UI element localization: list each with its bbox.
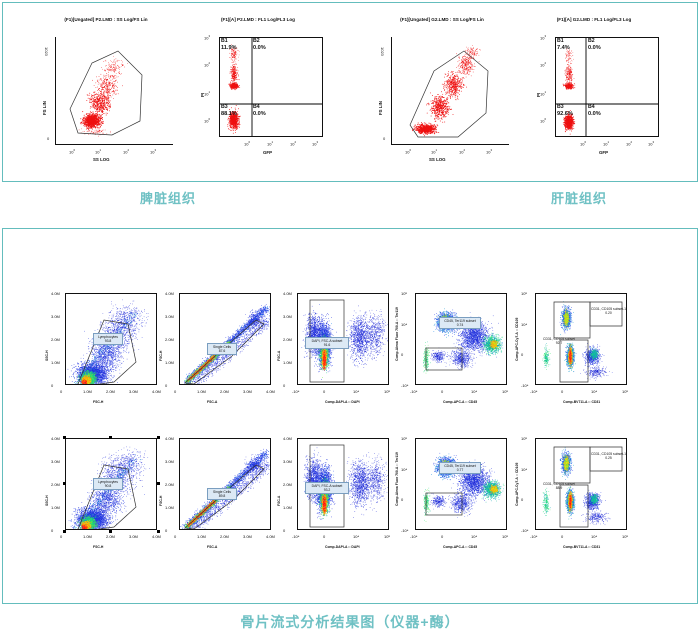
x-tick: 0: [441, 534, 443, 539]
x-tick: 102: [626, 140, 632, 146]
x-axis-label: SS LOG: [93, 157, 110, 162]
y-tick: 103: [540, 34, 546, 40]
y-tick: 4.0M: [283, 436, 292, 441]
gate-value: 88.9: [556, 486, 563, 490]
x-tick: 3.0M: [243, 534, 252, 539]
y-tick: 103: [204, 34, 210, 40]
y-tick: 4.0M: [283, 291, 292, 296]
x-tick: 102: [123, 148, 129, 154]
y-tick: 2.0M: [51, 482, 60, 487]
x-tick: 10⁵: [502, 389, 508, 394]
x-tick: 103: [312, 140, 318, 146]
plot-title: (F1)[A] P2.LMD : FL1 Log/FL3 Log: [183, 17, 333, 22]
y-tick: 10⁴: [401, 467, 407, 472]
selection-handle[interactable]: [109, 436, 112, 439]
gate-annotation[interactable]: Single Cells87.6: [207, 343, 237, 355]
plot-area[interactable]: [55, 37, 173, 145]
y-axis-label: Comp-Alexa Fluor 700-A :: Ter119: [395, 452, 399, 506]
y-tick: 4.0M: [51, 291, 60, 296]
y-tick: 0: [165, 383, 167, 388]
y-tick: 1023: [44, 47, 49, 56]
x-tick: -10⁴: [530, 389, 538, 394]
quadrant-label-b4: B4: [588, 104, 595, 110]
gate-annotation[interactable]: Lymphocytes90.8: [93, 478, 123, 490]
x-axis-label: Comp-BV711-A :: CD31: [563, 545, 600, 549]
gate-value: 90.8: [105, 484, 112, 488]
x-axis-label: FSC-A: [207, 400, 217, 404]
gate-label: CD31, CD105 subset-1: [591, 307, 626, 311]
x-tick: 10⁴: [591, 389, 597, 394]
x-tick: 0: [323, 534, 325, 539]
y-tick: -10⁴: [521, 383, 529, 388]
x-tick: 10⁴: [353, 389, 359, 394]
y-tick: -10⁴: [401, 383, 409, 388]
x-axis-label: SS LOG: [429, 157, 446, 162]
y-tick: 0: [47, 136, 49, 141]
x-tick: 0: [60, 534, 62, 539]
top-panel: (F1)[Ungated] P2.LMD : SS Log/FS Lin FS …: [2, 2, 698, 182]
y-axis-label: FSC-A: [277, 495, 281, 505]
gate-value: 0.25: [605, 456, 612, 460]
y-tick: 102: [204, 61, 210, 67]
gate-annotation[interactable]: DAPI, FSC-A subset91.6: [305, 337, 349, 349]
plot-row2-p5[interactable]: Comp-APC-Cy7-A :: CD105-10⁴010⁴10⁵CD31, …: [511, 434, 637, 560]
gate-annotation[interactable]: CD45, Ter119 subset0.77: [439, 462, 481, 474]
quadrant-value-b3: 92.6%: [557, 111, 573, 117]
x-tick: 2.0M: [220, 534, 229, 539]
x-tick: 10⁵: [384, 534, 390, 539]
x-tick: 0: [441, 389, 443, 394]
y-tick: 4.0M: [51, 436, 60, 441]
gate-annotation[interactable]: Single Cells89.8: [207, 488, 237, 500]
y-tick: 0: [401, 497, 403, 502]
x-tick: 101: [95, 148, 101, 154]
y-tick: 10⁴: [521, 467, 527, 472]
gate-value: 91.6: [324, 343, 331, 347]
x-tick: 102: [290, 140, 296, 146]
selection-handle[interactable]: [63, 482, 66, 485]
x-axis-label: Comp-APC-A :: CD45: [443, 545, 477, 549]
scatter-canvas: [556, 38, 659, 137]
x-tick: 1.0M: [197, 534, 206, 539]
quadrant-value-b1: 11.9%: [221, 45, 237, 51]
x-tick: 0: [174, 389, 176, 394]
quadrant-label-b3: B3: [557, 104, 564, 110]
gate-label: CD31, CD105 subset-1: [591, 452, 626, 456]
quadrant-label-b2: B2: [588, 38, 595, 44]
x-tick: 10⁴: [471, 389, 477, 394]
quadrant-label-b1: B1: [221, 38, 228, 44]
plot-title: (F1)[A] G2.LMD : FL1 Log/FL3 Log: [519, 17, 669, 22]
quadrant-value-b4: 0.0%: [588, 111, 601, 117]
y-tick: 1.0M: [283, 505, 292, 510]
plot-row2-p4[interactable]: Comp-Alexa Fluor 700-A :: Ter119-10⁴010⁴…: [391, 434, 517, 560]
y-tick: 100: [540, 117, 546, 123]
x-tick: 3.0M: [243, 389, 252, 394]
x-tick: 10⁵: [502, 534, 508, 539]
plot-row1-p1[interactable]: SSC-H01.0M2.0M3.0M4.0MLymphocytes93.801.…: [41, 289, 167, 415]
quadrant-label-b4: B4: [253, 104, 260, 110]
y-axis-label: Comp-Alexa Fluor 700-A :: Ter119: [395, 307, 399, 361]
y-tick: 2.0M: [165, 482, 174, 487]
quadrant-label-b2: B2: [253, 38, 260, 44]
x-tick: 3.0M: [129, 534, 138, 539]
y-tick: 10⁵: [401, 291, 407, 296]
plot-area[interactable]: [391, 37, 509, 145]
x-tick: 100: [580, 140, 586, 146]
gate-value: 0.20: [605, 311, 612, 315]
y-tick: 3.0M: [165, 314, 174, 319]
x-tick: 102: [459, 148, 465, 154]
quadrant-value-b2: 0.0%: [588, 45, 601, 51]
x-axis-label: FSC-A: [207, 545, 217, 549]
caption-bottom: 骨片流式分析结果图（仪器+酶）: [0, 612, 700, 632]
plot-spleen-scatter[interactable]: (F1)[Ungated] P2.LMD : SS Log/FS Lin FS …: [31, 17, 181, 167]
y-tick: 1.0M: [51, 505, 60, 510]
y-tick: 0: [51, 528, 53, 533]
plot-liver-quad[interactable]: (F1)[A] G2.LMD : FL1 Log/FL3 Log PI 103 …: [519, 17, 669, 167]
y-tick: 10⁵: [521, 436, 527, 441]
y-tick: 100: [204, 117, 210, 123]
y-tick: 2.0M: [165, 337, 174, 342]
y-tick: 1.0M: [165, 360, 174, 365]
y-tick: 10⁵: [521, 291, 527, 296]
y-axis-label: SSC-H: [45, 495, 49, 506]
y-axis-label: FSC-A: [277, 350, 281, 360]
gate-annotation[interactable]: CD31, CD105 subset-10.25: [591, 452, 626, 461]
y-tick: 3.0M: [165, 459, 174, 464]
gate-label: CD31, CD105 subset: [543, 482, 575, 486]
x-tick: 101: [603, 140, 609, 146]
y-tick: 0: [521, 352, 523, 357]
x-axis-label: Comp-DAPI-A :: DAPI: [325, 545, 360, 549]
x-tick: 3.0M: [129, 389, 138, 394]
x-tick: 1.0M: [197, 389, 206, 394]
y-tick: 2.0M: [283, 337, 292, 342]
bottom-panel: SSC-H01.0M2.0M3.0M4.0MLymphocytes93.801.…: [2, 228, 698, 604]
y-tick: 4.0M: [165, 436, 174, 441]
x-axis-label: Comp-DAPI-A :: DAPI: [325, 400, 360, 404]
x-axis-label: GFP: [263, 150, 272, 155]
gate-value: 89.8: [219, 494, 226, 498]
scatter-canvas: [220, 38, 323, 137]
y-tick: 10⁵: [401, 436, 407, 441]
quadrant-label-b3: B3: [221, 104, 228, 110]
caption-liver: 肝脏组织: [551, 188, 607, 207]
y-tick: 101: [204, 90, 210, 96]
y-tick: 0: [165, 528, 167, 533]
y-tick: 0: [283, 383, 285, 388]
gate-annotation[interactable]: CD31, CD105 subset92.7: [543, 337, 575, 346]
y-tick: 0: [521, 497, 523, 502]
scatter-canvas: [392, 37, 509, 145]
y-axis-label: Comp-APC-Cy7-A :: CD105: [515, 462, 519, 505]
x-tick: 100: [405, 148, 411, 154]
scatter-canvas: [56, 37, 173, 145]
x-axis-label: FSC-H: [93, 400, 103, 404]
x-tick: -10⁴: [410, 534, 418, 539]
plot-row1-p4[interactable]: Comp-Alexa Fluor 700-A :: Ter119-10⁴010⁴…: [391, 289, 517, 415]
x-tick: 103: [648, 140, 654, 146]
selection-handle[interactable]: [109, 530, 112, 533]
x-tick: 10⁵: [384, 389, 390, 394]
plot-liver-scatter[interactable]: (F1)[Ungated] G2.LMD : SS Log/FS Lin FS …: [367, 17, 517, 167]
gate-annotation[interactable]: CD45, Ter119 subset0.74: [439, 317, 481, 329]
x-tick: 0: [561, 389, 563, 394]
plot-row2-p2[interactable]: FSC-H01.0M2.0M3.0M4.0MSingle Cells89.801…: [155, 434, 281, 560]
x-tick: 10⁵: [622, 389, 628, 394]
x-tick: 2.0M: [106, 389, 115, 394]
x-tick: 0: [561, 534, 563, 539]
x-tick: 2.0M: [106, 534, 115, 539]
x-tick: 101: [267, 140, 273, 146]
y-tick: 0: [383, 136, 385, 141]
y-tick: 2.0M: [51, 337, 60, 342]
y-axis-label: FS LIN: [42, 101, 47, 115]
gate-value: 93.2: [324, 488, 331, 492]
x-tick: 1.0M: [83, 534, 92, 539]
y-tick: -10⁴: [521, 528, 529, 533]
plot-row2-p3[interactable]: FSC-A01.0M2.0M3.0M4.0MDAPI, FSC-A subset…: [273, 434, 399, 560]
y-tick: 0: [401, 352, 403, 357]
x-tick: 1.0M: [83, 389, 92, 394]
y-tick: 0: [51, 383, 53, 388]
gate-value: 87.6: [219, 349, 226, 353]
quadrant-label-b1: B1: [557, 38, 564, 44]
y-tick: 1.0M: [283, 360, 292, 365]
x-tick: 2.0M: [220, 389, 229, 394]
x-axis-label: Comp-APC-A :: CD45: [443, 400, 477, 404]
y-tick: 3.0M: [51, 314, 60, 319]
x-tick: 101: [431, 148, 437, 154]
selection-handle[interactable]: [63, 530, 66, 533]
y-tick: 102: [540, 61, 546, 67]
plot-area[interactable]: [179, 438, 271, 530]
y-tick: -10⁴: [401, 528, 409, 533]
plot-row2-p1[interactable]: SSC-H01.0M2.0M3.0M4.0MLymphocytes90.801.…: [41, 434, 167, 560]
y-tick: 1.0M: [165, 505, 174, 510]
x-tick: -10⁴: [530, 534, 538, 539]
y-tick: 2.0M: [283, 482, 292, 487]
x-tick: 103: [486, 148, 492, 154]
quadrant-value-b1: 7.4%: [557, 45, 570, 51]
gate-annotation[interactable]: CD31, CD105 subset-10.20: [591, 307, 626, 316]
x-tick: 10⁴: [353, 534, 359, 539]
plot-area[interactable]: [555, 37, 659, 137]
x-tick: 10⁴: [471, 534, 477, 539]
x-tick: 100: [69, 148, 75, 154]
x-tick: 0: [174, 534, 176, 539]
quadrant-value-b2: 0.0%: [253, 45, 266, 51]
y-tick: 10⁴: [521, 322, 527, 327]
plot-row1-p2[interactable]: FSC-H01.0M2.0M3.0M4.0MSingle Cells87.601…: [155, 289, 281, 415]
gate-annotation[interactable]: DAPI, FSC-A subset93.2: [305, 482, 349, 494]
x-tick: 10⁵: [622, 534, 628, 539]
plot-title: (F1)[Ungated] P2.LMD : SS Log/FS Lin: [31, 17, 181, 22]
quadrant-value-b3: 88.1%: [221, 111, 237, 117]
y-tick: 10⁴: [401, 322, 407, 327]
y-axis-label: SSC-H: [45, 350, 49, 361]
x-tick: 100: [244, 140, 250, 146]
gate-value: 0.77: [457, 468, 464, 472]
x-axis-label: FSC-H: [93, 545, 103, 549]
x-tick: -10⁴: [292, 534, 300, 539]
gate-label: CD31, CD105 subset: [543, 337, 575, 341]
plot-area[interactable]: [219, 37, 323, 137]
x-tick: 103: [150, 148, 156, 154]
caption-spleen: 脾脏组织: [140, 188, 196, 207]
plot-row1-p3[interactable]: FSC-A01.0M2.0M3.0M4.0MDAPI, FSC-A subset…: [273, 289, 399, 415]
plot-row1-p5[interactable]: Comp-APC-Cy7-A :: CD105-10⁴010⁴10⁵CD31, …: [511, 289, 637, 415]
y-axis-label: FS LIN: [378, 101, 383, 115]
plot-area[interactable]: [415, 438, 507, 530]
gate-value: 92.7: [556, 341, 563, 345]
quadrant-value-b4: 0.0%: [253, 111, 266, 117]
y-axis-label: FSC-H: [159, 495, 163, 505]
y-tick: 3.0M: [283, 459, 292, 464]
y-tick: 101: [540, 90, 546, 96]
x-tick: 10⁴: [591, 534, 597, 539]
gate-value: 93.8: [105, 339, 112, 343]
x-tick: -10⁴: [410, 389, 418, 394]
y-axis-label: FSC-H: [159, 350, 163, 360]
x-axis-label: Comp-BV711-A :: CD31: [563, 400, 600, 404]
selection-handle[interactable]: [63, 436, 66, 439]
plot-area[interactable]: [415, 293, 507, 385]
y-tick: 0: [283, 528, 285, 533]
x-axis-label: GFP: [599, 150, 608, 155]
gate-annotation[interactable]: Lymphocytes93.8: [93, 333, 123, 345]
plot-area[interactable]: [179, 293, 271, 385]
x-tick: -10⁴: [292, 389, 300, 394]
y-tick: 3.0M: [283, 314, 292, 319]
plot-spleen-quad[interactable]: (F1)[A] P2.LMD : FL1 Log/FL3 Log PI 103 …: [183, 17, 333, 167]
y-tick: 3.0M: [51, 459, 60, 464]
x-tick: 0: [323, 389, 325, 394]
x-tick: 0: [60, 389, 62, 394]
y-tick: 1023: [380, 47, 385, 56]
plot-title: (F1)[Ungated] G2.LMD : SS Log/FS Lin: [367, 17, 517, 22]
gate-value: 0.74: [457, 323, 464, 327]
y-tick: 4.0M: [165, 291, 174, 296]
gate-annotation[interactable]: CD31, CD105 subset88.9: [543, 482, 575, 491]
y-tick: 1.0M: [51, 360, 60, 365]
y-axis-label: Comp-APC-Cy7-A :: CD105: [515, 317, 519, 360]
